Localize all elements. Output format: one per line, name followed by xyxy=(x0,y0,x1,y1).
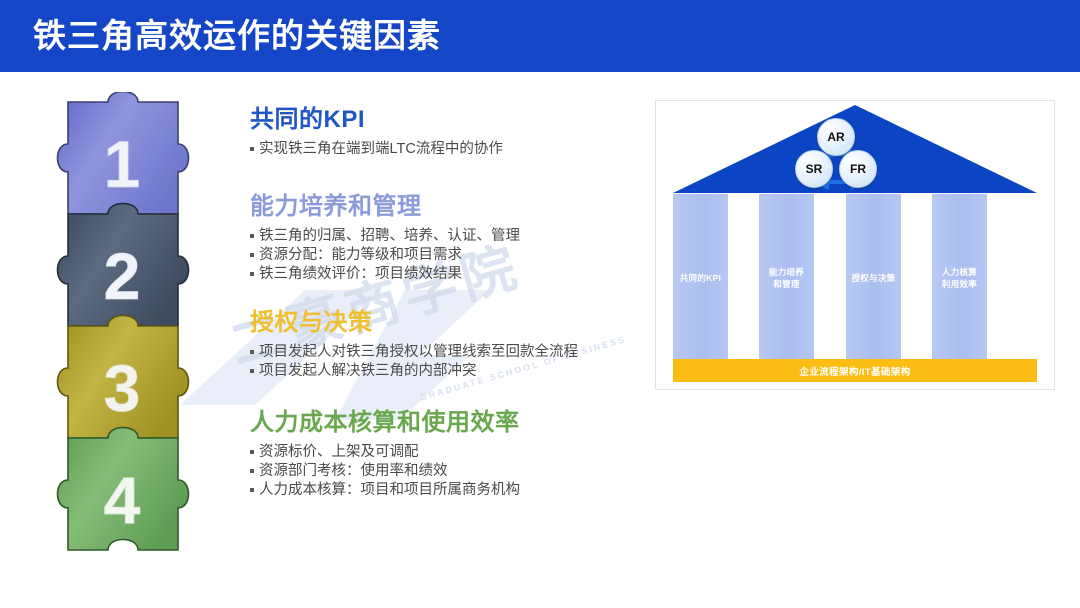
pillar-authorization-label: 授权与决策 xyxy=(851,272,895,284)
list-item: 人力成本核算：项目和项目所属商务机构 xyxy=(250,481,650,500)
list-item: 铁三角绩效评价：项目绩效结果 xyxy=(250,265,650,284)
node-ar-label: AR xyxy=(827,130,844,144)
list-item: 项目发起人对铁三角授权以管理线索至回款全流程 xyxy=(250,343,650,362)
bullet-text: 项目发起人对铁三角授权以管理线索至回款全流程 xyxy=(259,344,578,360)
pillar-authorization: 授权与决策 xyxy=(846,194,901,361)
section-bullets-authorization: 项目发起人对铁三角授权以管理线索至回款全流程 项目发起人解决铁三角的内部冲突 xyxy=(250,343,650,381)
node-sr: SR xyxy=(795,150,833,188)
list-item: 实现铁三角在端到端LTC流程中的协作 xyxy=(250,140,650,159)
bullet-text: 资源部门考核：使用率和绩效 xyxy=(259,463,448,479)
node-sr-label: SR xyxy=(806,162,823,176)
section-bullets-kpi: 实现铁三角在端到端LTC流程中的协作 xyxy=(250,140,650,159)
pillar-label-line1: 能力培养 xyxy=(769,267,804,277)
bullet-text: 项目发起人解决铁三角的内部冲突 xyxy=(259,363,477,379)
section-hr-cost: 人力成本核算和使用效率 资源标价、上架及可调配 资源部门考核：使用率和绩效 人力… xyxy=(250,408,650,500)
pillar-label-line2: 和管理 xyxy=(773,279,799,289)
bullet-text: 实现铁三角在端到端LTC流程中的协作 xyxy=(259,141,503,157)
bullet-text: 资源分配：能力等级和项目需求 xyxy=(259,247,462,263)
node-fr-label: FR xyxy=(850,162,866,176)
pillar-capability-label: 能力培养 和管理 xyxy=(769,266,804,290)
temple-diagram: AR SR FR 共同的KPI 能力培养 和管理 授权与决策 xyxy=(655,100,1055,390)
puzzle-piece-3: 3 xyxy=(58,316,189,439)
section-title-capability: 能力培养和管理 xyxy=(250,192,650,222)
pillar-label-line1: 授权与决策 xyxy=(851,273,895,283)
puzzle-piece-4: 4 xyxy=(58,428,189,551)
bullet-text: 人力成本核算：项目和项目所属商务机构 xyxy=(259,482,520,498)
puzzle-stack-svg: 1 2 3 4 xyxy=(30,92,230,582)
bullet-text: 铁三角的归属、招聘、培养、认证、管理 xyxy=(259,228,520,244)
svg-text:4: 4 xyxy=(104,463,141,537)
list-item: 资源分配：能力等级和项目需求 xyxy=(250,246,650,265)
bullet-marker-icon xyxy=(250,350,254,354)
page-title: 铁三角高效运作的关键因素 xyxy=(33,16,441,56)
puzzle-piece-2: 2 xyxy=(58,204,189,327)
foundation-bar: 企业流程架构/IT基础架构 xyxy=(673,359,1037,382)
section-title-authorization: 授权与决策 xyxy=(250,308,650,338)
list-item: 项目发起人解决铁三角的内部冲突 xyxy=(250,362,650,381)
section-capability: 能力培养和管理 铁三角的归属、招聘、培养、认证、管理 资源分配：能力等级和项目需… xyxy=(250,192,650,284)
section-title-hr-cost: 人力成本核算和使用效率 xyxy=(250,408,650,438)
slide-header: 铁三角高效运作的关键因素 xyxy=(0,0,1080,72)
pillar-capability: 能力培养 和管理 xyxy=(759,194,814,361)
foundation-label: 企业流程架构/IT基础架构 xyxy=(799,364,910,378)
svg-text:3: 3 xyxy=(104,351,141,425)
bullet-marker-icon xyxy=(250,488,254,492)
svg-text:2: 2 xyxy=(104,239,141,313)
section-kpi: 共同的KPI 实现铁三角在端到端LTC流程中的协作 xyxy=(250,105,650,159)
content-column: 共同的KPI 实现铁三角在端到端LTC流程中的协作 能力培养和管理 铁三角的归属… xyxy=(250,105,650,504)
list-item: 铁三角的归属、招聘、培养、认证、管理 xyxy=(250,227,650,246)
pillar-hr-efficiency-label: 人力核算 利用效率 xyxy=(942,266,977,290)
list-item: 资源部门考核：使用率和绩效 xyxy=(250,462,650,481)
section-authorization: 授权与决策 项目发起人对铁三角授权以管理线索至回款全流程 项目发起人解决铁三角的… xyxy=(250,308,650,381)
svg-text:1: 1 xyxy=(104,127,141,201)
bullet-marker-icon xyxy=(250,450,254,454)
slide: 铁三角高效运作的关键因素 二豪商学院 GRADUATE SCHOOL OF BU… xyxy=(0,0,1080,608)
section-bullets-hr-cost: 资源标价、上架及可调配 资源部门考核：使用率和绩效 人力成本核算：项目和项目所属… xyxy=(250,443,650,500)
bullet-marker-icon xyxy=(250,147,254,151)
section-bullets-capability: 铁三角的归属、招聘、培养、认证、管理 资源分配：能力等级和项目需求 铁三角绩效评… xyxy=(250,227,650,284)
list-item: 资源标价、上架及可调配 xyxy=(250,443,650,462)
pillar-kpi: 共同的KPI xyxy=(673,194,728,361)
bullet-text: 资源标价、上架及可调配 xyxy=(259,444,419,460)
puzzle-piece-1: 1 xyxy=(58,92,189,214)
bullet-marker-icon xyxy=(250,272,254,276)
pillar-label-line1: 人力核算 xyxy=(942,267,977,277)
bullet-marker-icon xyxy=(250,369,254,373)
pillar-kpi-label: 共同的KPI xyxy=(680,272,721,284)
pillar-label-line1: 共同的KPI xyxy=(680,273,721,283)
bullet-marker-icon xyxy=(250,253,254,257)
pillar-label-line2: 利用效率 xyxy=(942,279,977,289)
pillar-hr-efficiency: 人力核算 利用效率 xyxy=(932,194,987,361)
bullet-text: 铁三角绩效评价：项目绩效结果 xyxy=(259,266,462,282)
pillar-group: 共同的KPI 能力培养 和管理 授权与决策 人力核算 利用效率 xyxy=(663,194,1047,361)
node-fr: FR xyxy=(839,150,877,188)
node-ar: AR xyxy=(817,118,855,156)
bullet-marker-icon xyxy=(250,234,254,238)
section-title-kpi: 共同的KPI xyxy=(250,105,650,135)
puzzle-stack: 1 2 3 4 xyxy=(30,92,230,582)
bullet-marker-icon xyxy=(250,469,254,473)
